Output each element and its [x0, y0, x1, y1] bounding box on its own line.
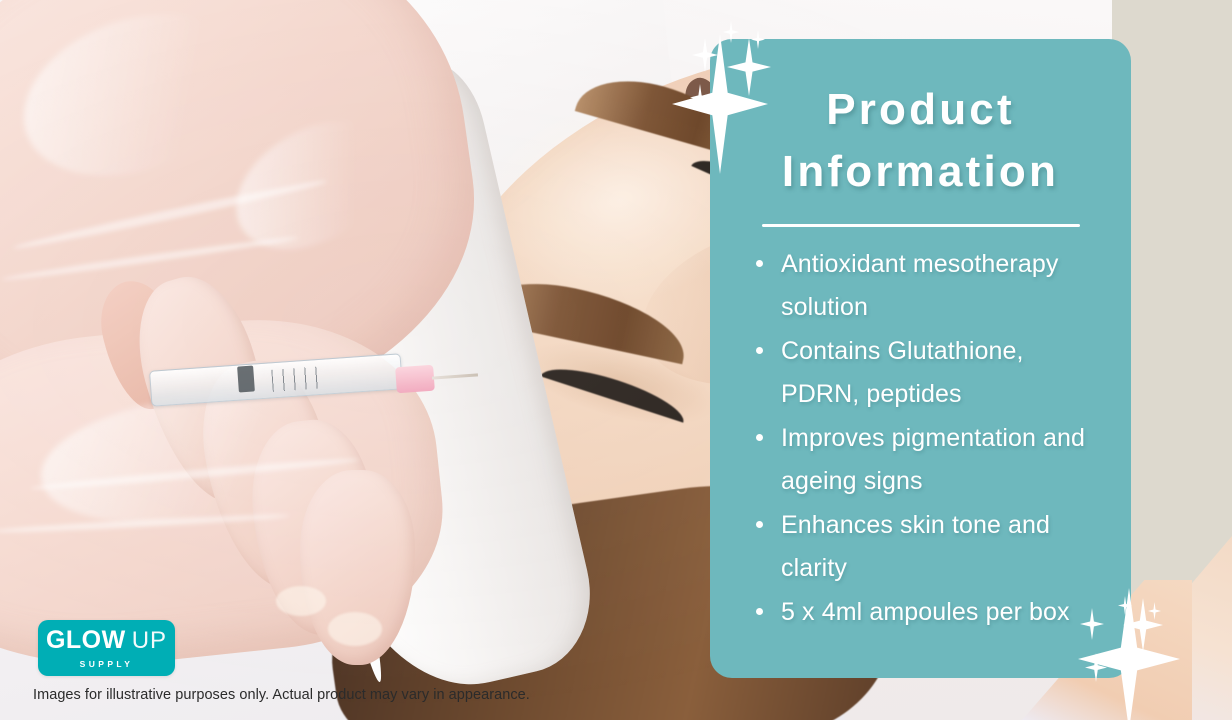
brand-logo[interactable]: GLOW UP SUPPLY [38, 620, 175, 676]
page-title: Product Information [744, 73, 1097, 202]
logo-wordmark: GLOW UP [46, 628, 167, 653]
logo-tagline: SUPPLY [80, 659, 134, 669]
syringe-needle-hub [395, 365, 435, 394]
list-item: Contains Glutathione, PDRN, peptides [748, 330, 1091, 416]
logo-word-up: UP [132, 629, 167, 653]
fingernail-b [276, 586, 326, 616]
product-information-card: Product Information Antioxidant mesother… [710, 39, 1131, 678]
title-divider [762, 224, 1080, 227]
list-item: Antioxidant mesotherapy solution [748, 243, 1091, 329]
promotional-banner: Product Information Antioxidant mesother… [0, 0, 1232, 720]
list-item: Enhances skin tone and clarity [748, 504, 1091, 590]
disclaimer-text: Images for illustrative purposes only. A… [33, 687, 530, 703]
page-title-line-2: Information [744, 141, 1097, 203]
product-feature-list: Antioxidant mesotherapy solution Contain… [744, 243, 1097, 634]
syringe-plunger [237, 365, 255, 392]
syringe-graduations [271, 366, 324, 392]
logo-word-glow: GLOW [46, 628, 126, 653]
list-item: Improves pigmentation and ageing signs [748, 417, 1091, 503]
page-title-line-1: Product [744, 79, 1097, 141]
fingernail-a [328, 612, 382, 646]
list-item: 5 x 4ml ampoules per box [748, 591, 1091, 634]
